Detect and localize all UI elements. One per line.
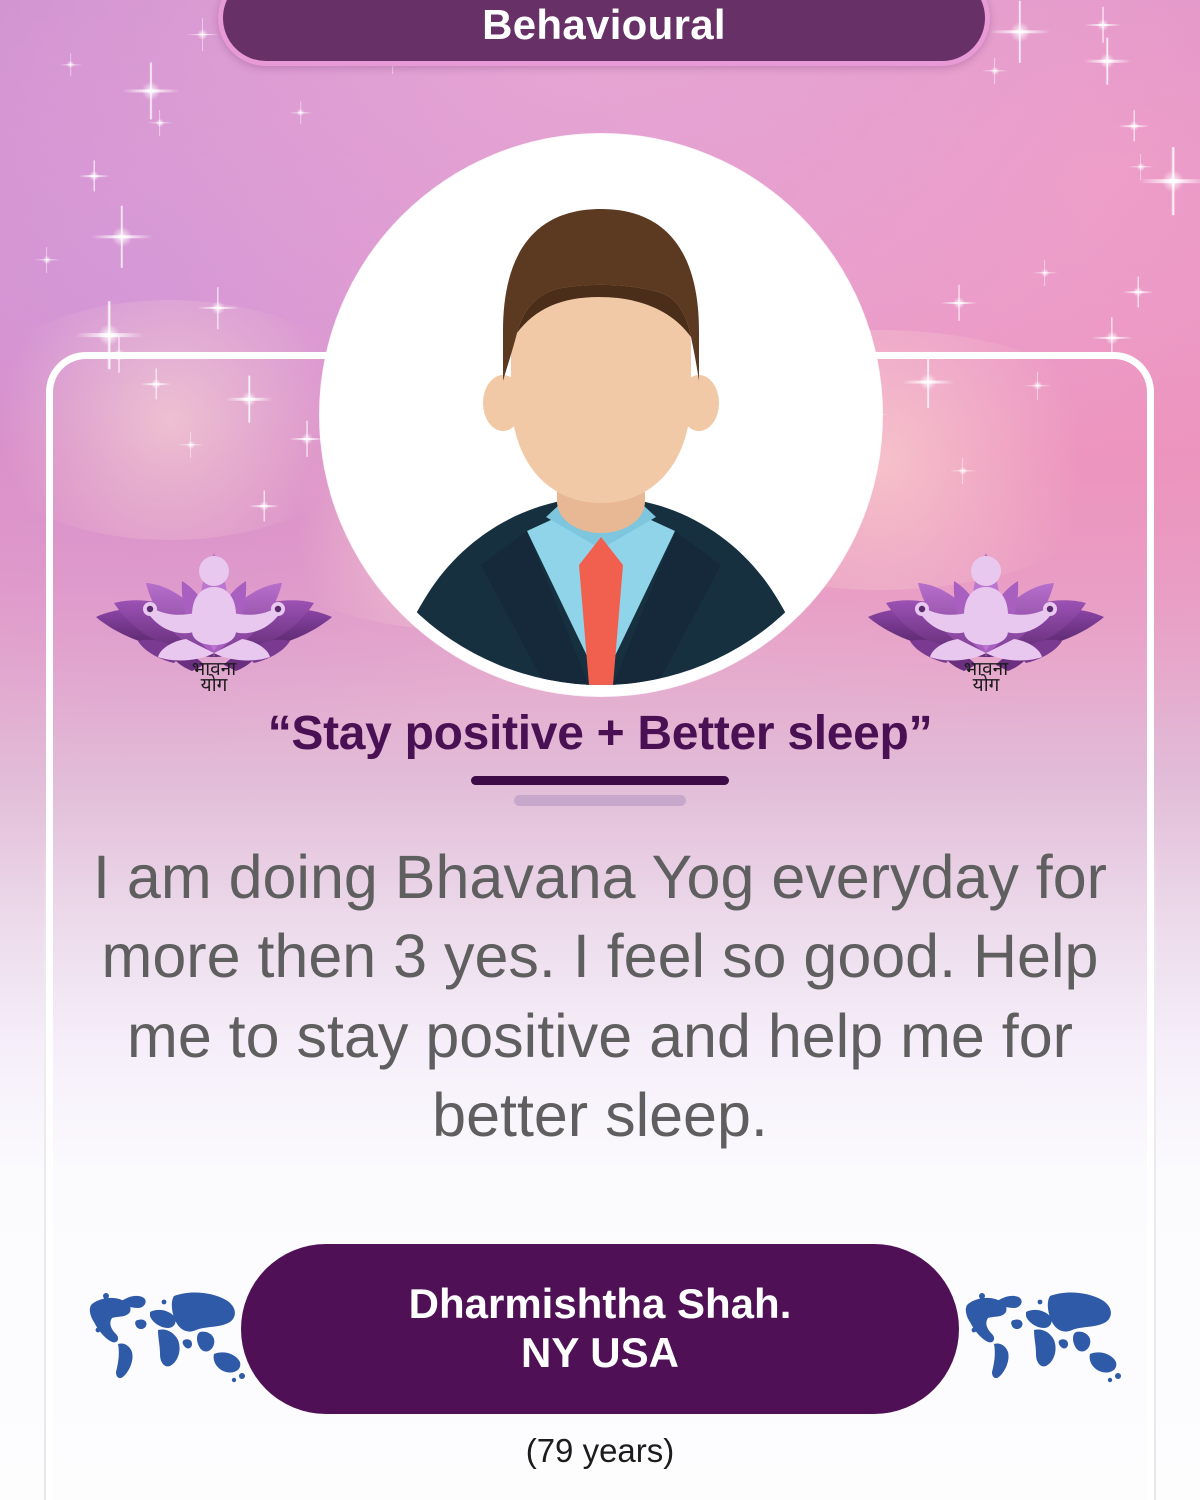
sparkle-star-icon bbox=[155, 118, 165, 128]
sparkle-star-icon bbox=[1096, 18, 1110, 32]
author-age: (79 years) bbox=[0, 1432, 1200, 1470]
logo-script-line2: योग bbox=[201, 673, 228, 693]
sparkle-star-icon bbox=[66, 60, 75, 69]
sparkle-star-icon bbox=[958, 466, 968, 476]
attribution-pill[interactable]: Dharmishtha Shah. NY USA bbox=[241, 1244, 959, 1414]
avatar bbox=[320, 134, 882, 696]
brand-logo-left: भावना योग bbox=[88, 505, 340, 693]
sparkle-star-icon bbox=[210, 300, 226, 316]
category-badge[interactable]: Behavioural bbox=[218, 0, 990, 66]
sparkle-star-icon bbox=[1040, 268, 1050, 278]
attribution-row: Dharmishtha Shah. NY USA bbox=[46, 1243, 1154, 1415]
sparkle-star-icon bbox=[990, 66, 1000, 76]
sparkle-star-icon bbox=[300, 432, 314, 446]
sparkle-star-icon bbox=[952, 296, 966, 310]
sparkle-star-icon bbox=[112, 348, 126, 362]
sparkle-star-icon bbox=[1128, 120, 1140, 132]
sparkle-star-icon bbox=[88, 170, 100, 182]
sparkle-star-icon bbox=[96, 322, 122, 348]
sparkle-star-icon bbox=[110, 225, 134, 249]
sparkle-star-icon bbox=[140, 80, 162, 102]
sparkle-star-icon bbox=[1104, 330, 1120, 346]
sparkle-star-icon bbox=[1032, 380, 1043, 391]
sparkle-star-icon bbox=[240, 390, 258, 408]
headline-underline-dark bbox=[471, 776, 729, 785]
lotus-meditation-logo-icon: भावना योग bbox=[860, 505, 1112, 693]
lotus-meditation-logo-icon: भावना योग bbox=[88, 505, 340, 693]
author-location: NY USA bbox=[521, 1329, 679, 1378]
author-name: Dharmishtha Shah. bbox=[409, 1280, 792, 1329]
category-badge-label: Behavioural bbox=[482, 1, 726, 49]
sparkle-star-icon bbox=[1008, 20, 1032, 44]
testimonial-text: I am doing Bhavana Yog everyday for more… bbox=[80, 838, 1120, 1155]
headline-text: “Stay positive + Better sleep” bbox=[268, 706, 933, 761]
male-avatar-placeholder-icon bbox=[331, 145, 871, 685]
sparkle-star-icon bbox=[1136, 162, 1146, 172]
sparkle-star-icon bbox=[1098, 52, 1116, 70]
headline-underline-light bbox=[514, 795, 686, 806]
brand-logo-right: भावना योग bbox=[860, 505, 1112, 693]
sparkle-star-icon bbox=[1160, 168, 1186, 194]
logo-script-line2: योग bbox=[973, 673, 1000, 693]
sparkle-star-icon bbox=[186, 440, 196, 450]
sparkle-star-icon bbox=[150, 378, 162, 390]
testimonial-card: Behavioural bbox=[0, 0, 1200, 1500]
sparkle-star-icon bbox=[1132, 286, 1144, 298]
sparkle-star-icon bbox=[918, 372, 938, 392]
sparkle-star-icon bbox=[196, 28, 209, 41]
sparkle-star-icon bbox=[296, 108, 305, 117]
headline: “Stay positive + Better sleep” bbox=[0, 706, 1200, 761]
